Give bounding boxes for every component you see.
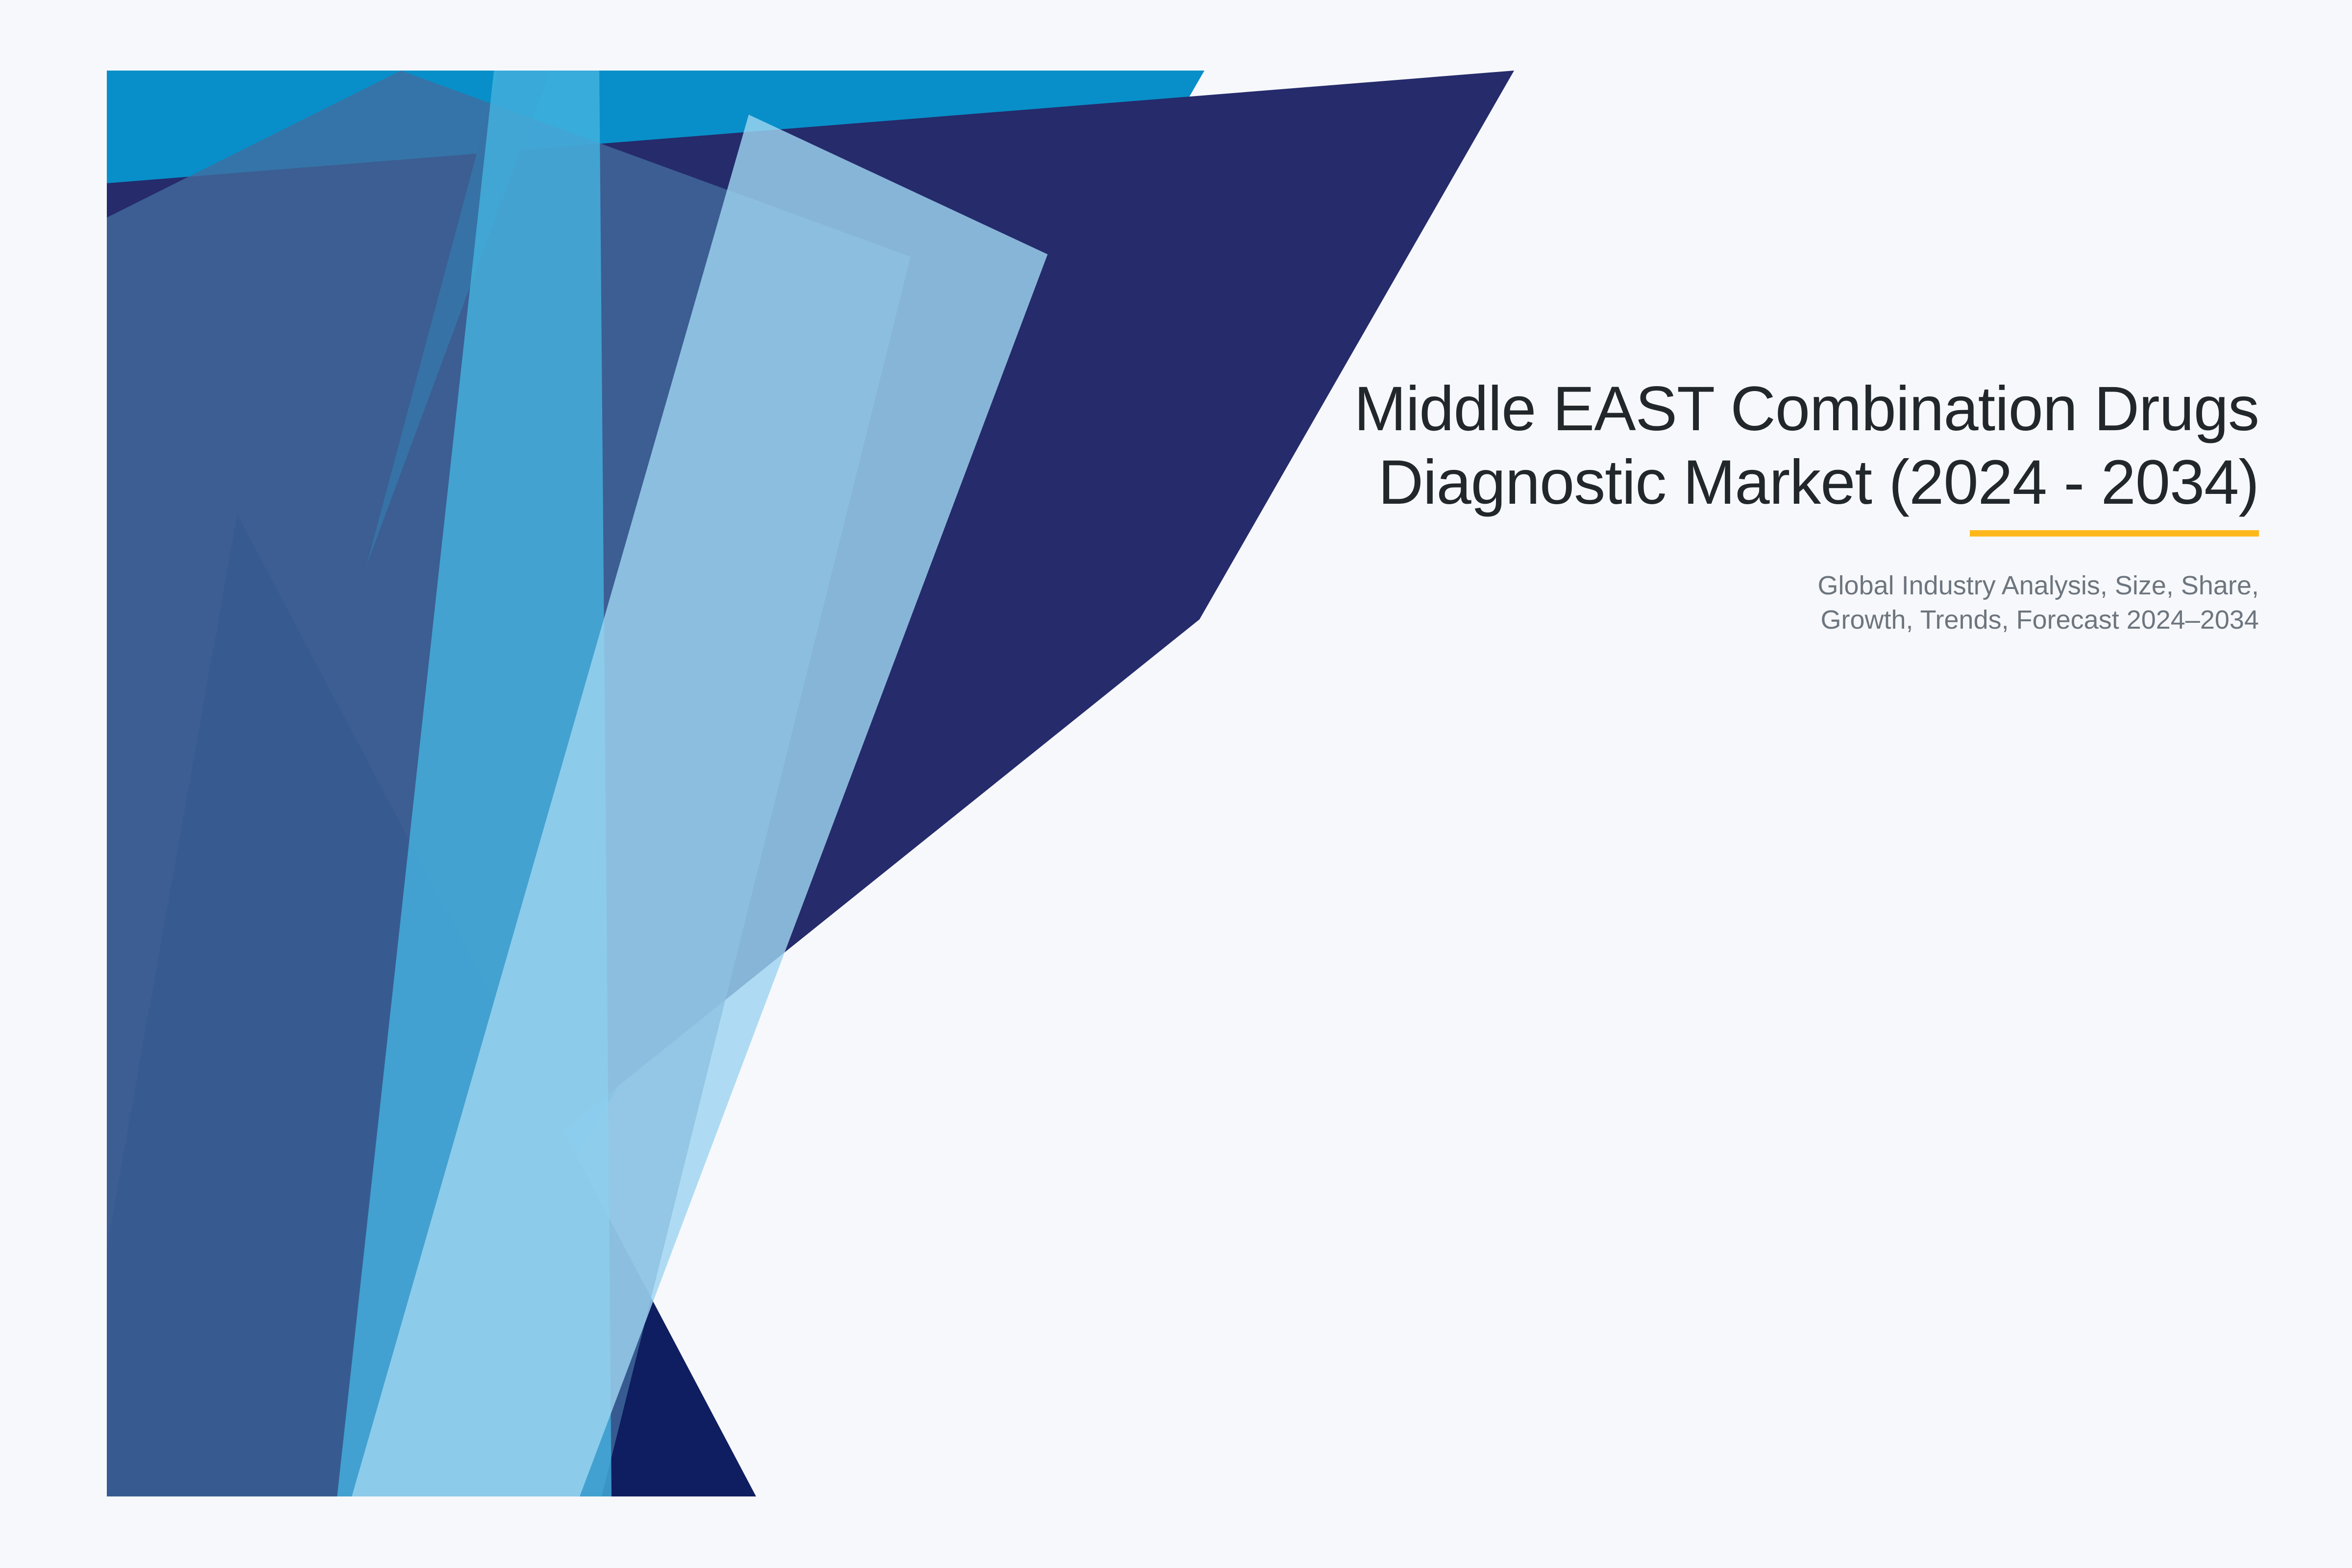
cover-artwork — [107, 71, 1518, 1496]
abstract-geometric-graphic — [107, 71, 1518, 1496]
title-accent-underline — [1970, 530, 2259, 537]
page-subtitle: Global Industry Analysis, Size, Share, G… — [1029, 568, 2259, 637]
cover-text-block: Middle EAST Combination Drugs Diagnostic… — [1029, 372, 2259, 637]
page-title: Middle EAST Combination Drugs Diagnostic… — [1029, 372, 2259, 519]
report-cover-page: Middle EAST Combination Drugs Diagnostic… — [0, 0, 2352, 1568]
title-wrapper: Middle EAST Combination Drugs Diagnostic… — [1029, 372, 2259, 519]
